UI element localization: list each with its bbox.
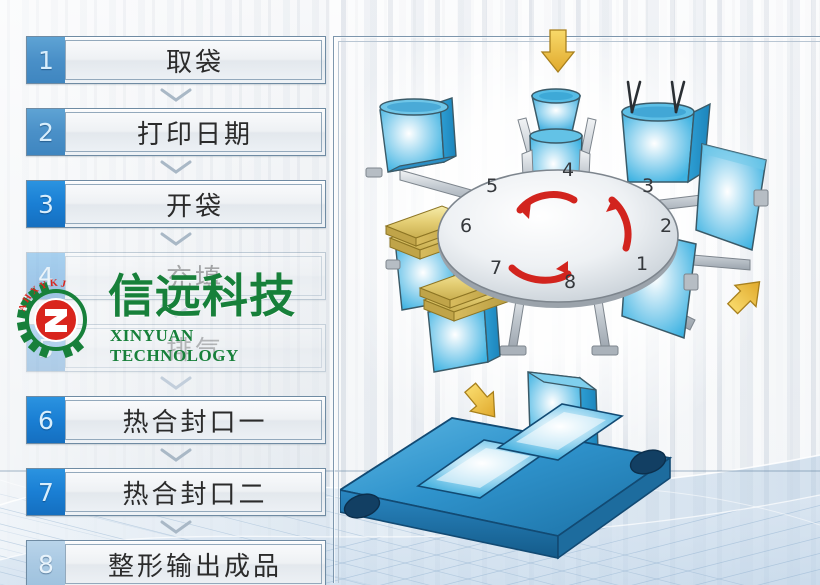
svg-text:8: 8 xyxy=(564,271,576,293)
step-number-badge: 3 xyxy=(27,181,65,227)
svg-text:4: 4 xyxy=(562,159,574,181)
step-label: 热合封口一 xyxy=(65,397,325,443)
svg-text:5: 5 xyxy=(486,175,498,197)
station-3-bag-open xyxy=(622,82,710,182)
logo-company-name-cn: 信远科技 xyxy=(108,270,296,322)
flow-connector-3 xyxy=(26,228,326,252)
svg-text:7: 7 xyxy=(490,257,502,279)
flow-step-1[interactable]: 1 取袋 xyxy=(26,36,326,84)
bag-infeed-arrow xyxy=(722,271,770,319)
step-number-badge: 8 xyxy=(27,541,65,585)
svg-text:2: 2 xyxy=(660,215,672,237)
chevron-down-icon xyxy=(159,231,193,249)
flow-connector-6 xyxy=(26,444,326,468)
material-infeed-arrow xyxy=(542,30,574,72)
screenshot-root: 1 2 3 4 5 6 7 8 xyxy=(0,0,820,585)
step-number-badge: 6 xyxy=(27,397,65,443)
station-2-flat-bag xyxy=(696,144,768,250)
product-output-arrow xyxy=(459,378,506,426)
step-label: 热合封口二 xyxy=(65,469,325,515)
company-logo: A H X Y K J 信远科技 XINYUAN TECHNOLOGY xyxy=(12,268,312,360)
step-label: 开袋 xyxy=(65,181,325,227)
svg-text:3: 3 xyxy=(642,175,654,197)
flow-connector-5 xyxy=(26,372,326,396)
step-label: 取袋 xyxy=(65,37,325,83)
chevron-down-icon xyxy=(159,87,193,105)
rotary-turntable: 1 2 3 4 5 6 7 8 xyxy=(438,159,678,308)
output-conveyor xyxy=(340,404,670,558)
logo-company-name-en: XINYUAN TECHNOLOGY xyxy=(110,326,312,366)
flow-step-6[interactable]: 6 热合封口一 xyxy=(26,396,326,444)
step-label: 整形输出成品 xyxy=(65,541,325,585)
flow-step-3[interactable]: 3 开袋 xyxy=(26,180,326,228)
chevron-down-icon xyxy=(159,519,193,537)
chevron-down-icon xyxy=(159,447,193,465)
flow-connector-1 xyxy=(26,84,326,108)
flow-step-8[interactable]: 8 整形输出成品 xyxy=(26,540,326,585)
station-5-open-bag xyxy=(380,98,456,172)
chevron-down-icon xyxy=(159,159,193,177)
packaging-machine-illustration: 1 2 3 4 5 6 7 8 xyxy=(340,20,820,560)
flow-step-2[interactable]: 2 打印日期 xyxy=(26,108,326,156)
chevron-down-icon xyxy=(159,375,193,393)
step-number-badge: 7 xyxy=(27,469,65,515)
step-number-badge: 2 xyxy=(27,109,65,155)
step-label: 打印日期 xyxy=(65,109,325,155)
svg-text:1: 1 xyxy=(636,253,648,275)
svg-text:6: 6 xyxy=(460,215,472,237)
gear-logo-icon: A H X Y K J xyxy=(12,270,100,358)
flow-connector-7 xyxy=(26,516,326,540)
flow-step-7[interactable]: 7 热合封口二 xyxy=(26,468,326,516)
flow-connector-2 xyxy=(26,156,326,180)
step-number-badge: 1 xyxy=(27,37,65,83)
